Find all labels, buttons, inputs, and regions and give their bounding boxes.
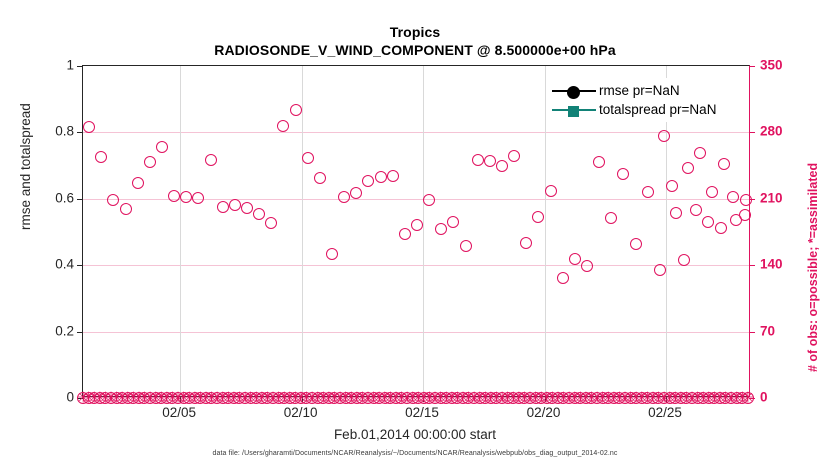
obs-possible-marker xyxy=(666,180,678,192)
obs-possible-marker xyxy=(715,222,727,234)
obs-possible-marker xyxy=(532,211,544,223)
obs-possible-marker xyxy=(132,177,144,189)
obs-possible-marker xyxy=(557,272,569,284)
y-axis-right-tick-mark xyxy=(749,332,755,333)
y-axis-left-tick-mark xyxy=(77,66,83,67)
gridline-vertical xyxy=(545,66,546,396)
y-axis-right-tick-label: 0 xyxy=(760,390,820,405)
y-axis-left-tick-label: 1 xyxy=(14,58,74,73)
obs-possible-marker xyxy=(192,192,204,204)
obs-possible-marker xyxy=(375,171,387,183)
obs-possible-marker xyxy=(484,155,496,167)
obs-possible-marker xyxy=(520,237,532,249)
obs-possible-marker xyxy=(156,141,168,153)
y-axis-right-tick-label: 210 xyxy=(760,190,820,205)
obs-possible-marker xyxy=(423,194,435,206)
y-axis-right-tick-label: 70 xyxy=(760,323,820,338)
y-axis-left-tick-label: 0 xyxy=(14,390,74,405)
y-axis-left-tick-label: 0.8 xyxy=(14,124,74,139)
y-axis-right-tick-mark xyxy=(749,66,755,67)
obs-possible-marker xyxy=(180,191,192,203)
chart-title-block: Tropics RADIOSONDE_V_WIND_COMPONENT @ 8.… xyxy=(0,24,830,60)
obs-possible-marker xyxy=(265,217,277,229)
x-axis-tick-label: 02/15 xyxy=(382,405,462,420)
obs-possible-marker xyxy=(217,201,229,213)
y-axis-right-tick-label: 280 xyxy=(760,124,820,139)
obs-possible-marker xyxy=(617,168,629,180)
chart-title: Tropics xyxy=(0,24,830,41)
legend-item-rmse[interactable]: rmse pr=NaN xyxy=(552,81,716,100)
x-axis-title: Feb.01,2014 00:00:00 start xyxy=(0,427,830,442)
obs-possible-marker xyxy=(205,154,217,166)
obs-possible-marker xyxy=(253,208,265,220)
gridline-horizontal xyxy=(83,265,749,266)
obs-possible-marker xyxy=(496,160,508,172)
gridline-horizontal xyxy=(83,332,749,333)
obs-assimilated-marker: ✳ xyxy=(741,392,754,405)
legend-marker-totalspread-icon xyxy=(552,103,596,117)
obs-possible-marker xyxy=(694,147,706,159)
obs-possible-marker xyxy=(706,186,718,198)
obs-possible-marker xyxy=(229,199,241,211)
y-axis-right-tick-label: 140 xyxy=(760,257,820,272)
gridline-horizontal xyxy=(83,132,749,133)
legend-label-totalspread: totalspread pr=NaN xyxy=(599,102,716,117)
obs-possible-marker xyxy=(642,186,654,198)
obs-possible-marker xyxy=(362,175,374,187)
y-axis-left-tick-mark xyxy=(77,132,83,133)
chart-legend[interactable]: rmse pr=NaN totalspread pr=NaN xyxy=(548,78,722,122)
obs-possible-marker xyxy=(95,151,107,163)
obs-possible-marker xyxy=(447,216,459,228)
y-axis-left-tick-mark xyxy=(77,332,83,333)
obs-possible-marker xyxy=(718,158,730,170)
obs-possible-marker xyxy=(120,203,132,215)
obs-possible-marker xyxy=(350,187,362,199)
y-axis-left-tick-mark xyxy=(77,265,83,266)
obs-possible-marker xyxy=(593,156,605,168)
obs-possible-marker xyxy=(241,202,253,214)
y-axis-left-tick-mark xyxy=(77,199,83,200)
obs-possible-marker xyxy=(314,172,326,184)
obs-possible-marker xyxy=(460,240,472,252)
y-axis-left-title: rmse and totalspread xyxy=(18,103,33,230)
y-axis-right-tick-label: 350 xyxy=(760,58,820,73)
obs-possible-marker xyxy=(326,248,338,260)
obs-possible-marker xyxy=(277,120,289,132)
x-axis-tick-label: 02/25 xyxy=(625,405,705,420)
x-axis-tick-label: 02/20 xyxy=(504,405,584,420)
obs-possible-marker xyxy=(581,260,593,272)
y-axis-right-tick-mark xyxy=(749,132,755,133)
x-axis-tick-label: 02/05 xyxy=(139,405,219,420)
y-axis-right-tick-mark xyxy=(749,265,755,266)
obs-possible-marker xyxy=(702,216,714,228)
obs-possible-marker xyxy=(168,190,180,202)
obs-possible-marker xyxy=(411,219,423,231)
obs-possible-marker xyxy=(654,264,666,276)
obs-possible-marker xyxy=(727,191,739,203)
gridline-vertical xyxy=(180,66,181,396)
x-axis-tick-label: 02/10 xyxy=(261,405,341,420)
obs-possible-marker xyxy=(658,130,670,142)
obs-possible-marker xyxy=(508,150,520,162)
obs-possible-marker xyxy=(678,254,690,266)
chart-canvas: Tropics RADIOSONDE_V_WIND_COMPONENT @ 8.… xyxy=(0,0,830,470)
obs-possible-marker xyxy=(545,185,557,197)
obs-possible-marker xyxy=(605,212,617,224)
obs-possible-marker xyxy=(670,207,682,219)
y-axis-left-tick-label: 0.6 xyxy=(14,190,74,205)
legend-marker-rmse-icon xyxy=(552,84,596,98)
obs-possible-marker xyxy=(435,223,447,235)
obs-possible-marker xyxy=(472,154,484,166)
obs-possible-marker xyxy=(338,191,350,203)
obs-possible-marker xyxy=(740,194,752,206)
obs-possible-marker xyxy=(290,104,302,116)
y-axis-left-tick-label: 0.4 xyxy=(14,257,74,272)
obs-possible-marker xyxy=(107,194,119,206)
obs-possible-marker xyxy=(630,238,642,250)
chart-subtitle: RADIOSONDE_V_WIND_COMPONENT @ 8.500000e+… xyxy=(0,41,830,60)
obs-possible-marker xyxy=(399,228,411,240)
y-axis-left-tick-label: 0.2 xyxy=(14,323,74,338)
obs-possible-marker xyxy=(387,170,399,182)
obs-possible-marker xyxy=(730,214,742,226)
data-file-caption: data file: /Users/gharamti/Documents/NCA… xyxy=(0,450,830,457)
gridline-vertical xyxy=(423,66,424,396)
legend-label-rmse: rmse pr=NaN xyxy=(599,83,680,98)
obs-possible-marker xyxy=(690,204,702,216)
gridline-vertical xyxy=(302,66,303,396)
obs-possible-marker xyxy=(83,121,95,133)
obs-possible-marker xyxy=(682,162,694,174)
obs-possible-marker xyxy=(144,156,156,168)
obs-possible-marker xyxy=(302,152,314,164)
legend-item-totalspread[interactable]: totalspread pr=NaN xyxy=(552,100,716,119)
obs-possible-marker xyxy=(569,253,581,265)
